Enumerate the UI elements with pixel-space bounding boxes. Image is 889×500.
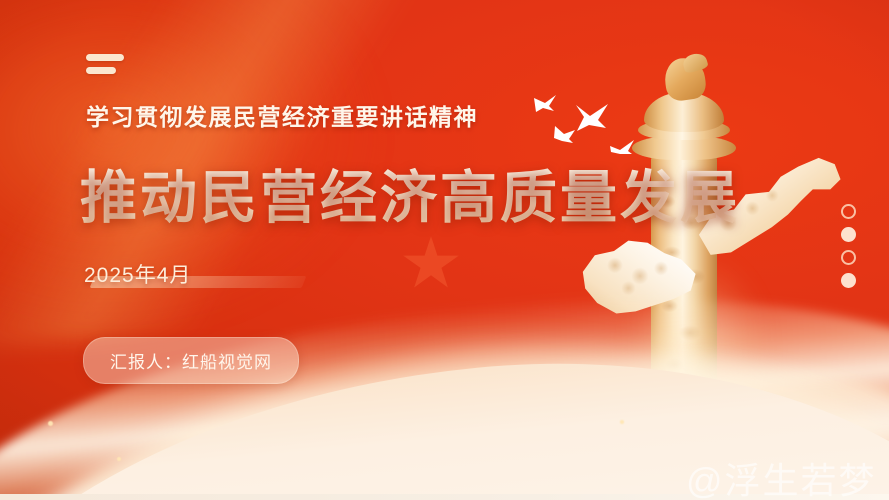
indicator-dot-1[interactable] <box>841 204 856 219</box>
indicator-dot-2[interactable] <box>841 227 856 242</box>
spark-dot <box>48 421 53 426</box>
spark-dot <box>620 420 624 424</box>
dove-icon <box>572 100 612 134</box>
column-beast-head <box>681 51 709 74</box>
menu-mark-bar-top <box>86 54 124 61</box>
presenter-badge: 汇报人：红船视觉网 <box>83 337 299 384</box>
indicator-dot-3[interactable] <box>841 250 856 265</box>
slide-title: 推动民营经济高质量发展 <box>80 152 740 234</box>
menu-mark-bar-bottom <box>86 67 116 74</box>
slide-subtitle: 学习贯彻发展民营经济重要讲话精神 <box>86 98 478 132</box>
watermark-text: @浮生若梦 <box>686 452 877 500</box>
slide-date: 2025年4月 <box>84 259 191 289</box>
menu-mark-icon <box>86 54 124 80</box>
dove-icon <box>532 92 558 114</box>
slide-canvas: 学习贯彻发展民营经济重要讲话精神 推动民营经济高质量发展 2025年4月 汇报人… <box>0 0 889 500</box>
slide-indicator-dots[interactable] <box>841 204 859 296</box>
spark-dot <box>117 457 121 461</box>
indicator-dot-4[interactable] <box>841 273 856 288</box>
